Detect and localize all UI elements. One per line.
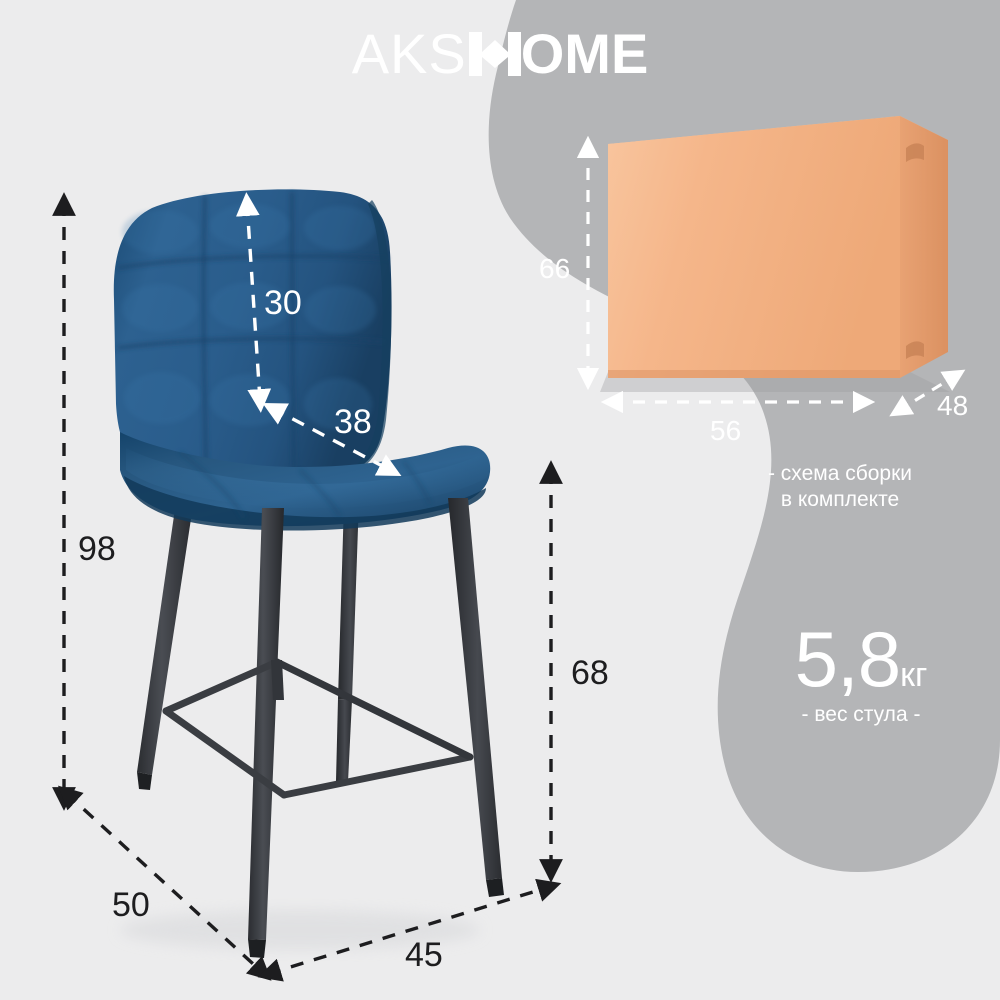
label-base-depth: 50 bbox=[112, 888, 150, 922]
weight-block: 5,8кг - вес стула - bbox=[730, 620, 992, 725]
weight-number: 5,8 bbox=[795, 615, 900, 703]
label-total-height: 98 bbox=[78, 532, 116, 566]
label-box-height: 66 bbox=[539, 255, 570, 283]
logo-text-home: OME bbox=[521, 22, 649, 85]
label-base-width: 45 bbox=[405, 938, 443, 972]
weight-unit: кг bbox=[900, 656, 927, 694]
weight-value-row: 5,8кг bbox=[730, 620, 992, 698]
logo-text-aks: AKS bbox=[352, 22, 467, 85]
assembly-scheme-note: - схема сборки в комплекте bbox=[700, 461, 980, 512]
label-seat-depth: 38 bbox=[334, 405, 372, 439]
weight-caption: - вес стула - bbox=[730, 704, 992, 725]
label-box-width: 56 bbox=[710, 417, 741, 445]
label-backrest-height: 30 bbox=[264, 286, 302, 320]
label-seat-height: 68 bbox=[571, 656, 609, 690]
brand-logo: AKSOME bbox=[0, 26, 1000, 82]
infographic-canvas: AKSOME 98 30 38 68 50 45 66 56 48 - схем… bbox=[0, 0, 1000, 1000]
house-h-icon bbox=[469, 26, 521, 82]
label-box-depth: 48 bbox=[937, 392, 968, 420]
